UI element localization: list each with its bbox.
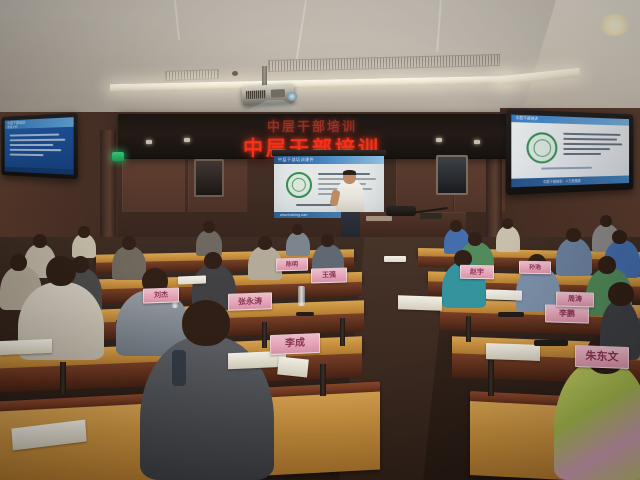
- attendee-head: [46, 256, 76, 286]
- attendee: [112, 246, 146, 280]
- attendee-head: [10, 254, 27, 271]
- podium-device: [420, 213, 442, 219]
- ceiling-sprinkler: [232, 71, 238, 76]
- desk-booklet: [398, 295, 442, 311]
- slide-header-text: 中层干部培训课件: [278, 157, 314, 163]
- slide-footer-text: www.training.com: [280, 213, 307, 217]
- desk-leg: [320, 364, 326, 396]
- nameplate: 刘杰: [143, 287, 179, 303]
- exit-sign-icon: [112, 152, 124, 161]
- lecture-hall-photo: 中层干部培训 中层干部培训 中层干部培训课件 www.training.com …: [0, 0, 640, 480]
- ceiling-vent: [165, 69, 219, 81]
- presenter-shirt: [336, 180, 364, 212]
- desk-device: [498, 312, 524, 317]
- water-bottle: [298, 286, 305, 306]
- nameplate: 朱东文: [575, 345, 629, 369]
- desk-device: [534, 340, 568, 346]
- attendee-head: [182, 300, 230, 346]
- podium-paper: [366, 216, 392, 221]
- attendee-head: [608, 282, 634, 306]
- projection-screen: 中层干部培训课件 www.training.com: [274, 156, 384, 218]
- ceiling-downlight: [600, 14, 630, 36]
- desk-leg: [262, 322, 267, 348]
- attendee-head: [502, 218, 513, 229]
- nameplate: 张永涛: [228, 292, 272, 311]
- projector-lens: [287, 92, 297, 101]
- nameplate: 周涛: [556, 292, 594, 308]
- tv-right-logo-icon: [526, 132, 557, 164]
- wall-speaker-left: [194, 159, 224, 197]
- attendee-foreground: [554, 360, 640, 480]
- wall-speaker-right: [436, 155, 468, 195]
- attendee-head: [566, 228, 581, 242]
- attendee-head: [450, 220, 462, 232]
- attendee-head: [468, 232, 482, 246]
- attendee-head: [33, 234, 47, 248]
- desk-booklet: [277, 356, 309, 377]
- nameplate: 陈明: [276, 258, 308, 272]
- desk-device: [296, 312, 314, 316]
- attendee-head: [122, 236, 136, 250]
- attendee: [496, 226, 520, 252]
- desk-paper: [486, 289, 522, 300]
- tv-left-subheader-text: 课程大纲: [7, 125, 17, 129]
- attendee-head: [78, 226, 90, 238]
- attendee-head: [600, 215, 612, 227]
- desk-leg: [340, 318, 345, 346]
- attendee-head: [292, 224, 303, 235]
- attendee: [556, 238, 592, 276]
- wall-pillar-left: [100, 130, 116, 242]
- attendee-head: [321, 234, 334, 247]
- tv-left: 中层干部培训 课程大纲: [1, 113, 77, 180]
- attendee-head: [612, 230, 627, 244]
- desk-paper: [384, 256, 406, 262]
- tv-right: 中层干部培训 中层干部培训 · 人力资源部: [506, 109, 634, 195]
- desk-booklet: [486, 343, 540, 361]
- attendee-head: [598, 256, 616, 274]
- slide-logo-icon: [286, 172, 312, 198]
- desk-leg: [466, 316, 471, 342]
- lanyard: [172, 350, 186, 386]
- nameplate: 赵宇: [460, 265, 494, 280]
- nameplate: 孙浩: [519, 261, 551, 275]
- nameplate: 李成: [270, 333, 320, 355]
- desk-leg: [488, 360, 494, 396]
- desk-booklet: [0, 339, 52, 355]
- attendee-head: [258, 236, 272, 250]
- desk-paper: [178, 276, 206, 285]
- nameplate: 王强: [311, 267, 347, 283]
- attendee-head: [204, 252, 222, 269]
- tv-right-header-text: 中层干部培训: [516, 116, 538, 122]
- presenter-head: [343, 170, 356, 184]
- attendee: [286, 232, 310, 256]
- desk-leg: [60, 362, 66, 394]
- attendee-head: [203, 221, 215, 233]
